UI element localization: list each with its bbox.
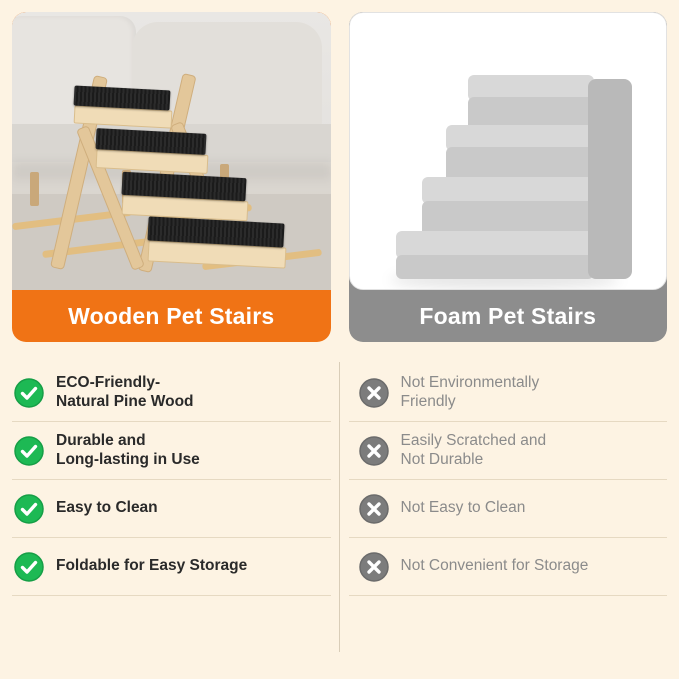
- caption-wooden: Wooden Pet Stairs: [12, 290, 331, 342]
- feature-text: Not Convenient for Storage: [401, 557, 589, 576]
- feature-text: Not Environmentally Friendly: [401, 374, 540, 412]
- comparison-page: Wooden Pet Stairs ECO-Friendly- Natural …: [0, 0, 679, 679]
- product-card-wooden: Wooden Pet Stairs: [12, 12, 331, 342]
- feature-item: ECO-Friendly- Natural Pine Wood: [12, 364, 331, 422]
- feature-text: Foldable for Easy Storage: [56, 557, 247, 576]
- foam-side-panel: [588, 79, 632, 279]
- feature-item: Not Convenient for Storage: [349, 538, 668, 596]
- feature-item: Easily Scratched and Not Durable: [349, 422, 668, 480]
- column-foam: Foam Pet Stairs Not Environmentally Frie…: [349, 12, 668, 669]
- feature-item: Durable and Long-lasting in Use: [12, 422, 331, 480]
- feature-text: Easily Scratched and Not Durable: [401, 432, 547, 470]
- feature-list-foam: Not Environmentally Friendly Easily Scra…: [349, 364, 668, 596]
- feature-line-1: Durable and: [56, 432, 146, 449]
- feature-item: Not Easy to Clean: [349, 480, 668, 538]
- column-divider: [339, 362, 340, 652]
- feature-text: Not Easy to Clean: [401, 499, 526, 518]
- feature-item: Not Environmentally Friendly: [349, 364, 668, 422]
- caption-foam: Foam Pet Stairs: [349, 290, 668, 342]
- product-photo-foam: [349, 12, 668, 290]
- check-icon: [14, 436, 44, 466]
- feature-line-2: Long-lasting in Use: [56, 451, 200, 468]
- cross-icon: [359, 552, 389, 582]
- check-icon: [14, 552, 44, 582]
- feature-line-2: Friendly: [401, 393, 456, 410]
- cross-icon: [359, 378, 389, 408]
- feature-line-2: Not Durable: [401, 451, 484, 468]
- feature-item: Foldable for Easy Storage: [12, 538, 331, 596]
- feature-text: Easy to Clean: [56, 499, 158, 518]
- feature-line-1: Easily Scratched and: [401, 432, 547, 449]
- cross-icon: [359, 494, 389, 524]
- feature-line-1: ECO-Friendly-: [56, 374, 160, 391]
- foam-step-top: [422, 177, 594, 204]
- check-icon: [14, 494, 44, 524]
- cross-icon: [359, 436, 389, 466]
- feature-line-1: Not Environmentally: [401, 374, 540, 391]
- foam-step-riser: [396, 255, 594, 279]
- check-icon: [14, 378, 44, 408]
- feature-item: Easy to Clean: [12, 480, 331, 538]
- feature-text: Durable and Long-lasting in Use: [56, 432, 200, 470]
- feature-list-wooden: ECO-Friendly- Natural Pine Wood Durable …: [12, 364, 331, 596]
- product-photo-wooden: [12, 12, 331, 290]
- feature-text: ECO-Friendly- Natural Pine Wood: [56, 374, 194, 412]
- feature-line-2: Natural Pine Wood: [56, 393, 194, 410]
- product-card-foam: Foam Pet Stairs: [349, 12, 668, 342]
- sofa-leg: [30, 172, 39, 206]
- column-wooden: Wooden Pet Stairs ECO-Friendly- Natural …: [12, 12, 331, 669]
